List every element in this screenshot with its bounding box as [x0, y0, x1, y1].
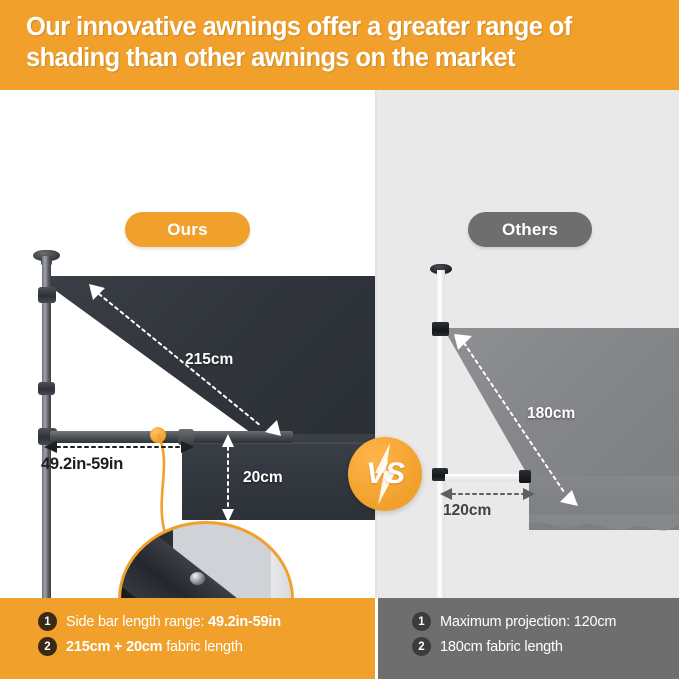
list-number-badge: 2 [38, 637, 57, 656]
page-title: Our innovative awnings offer a greater r… [26, 12, 663, 74]
list-item: 1 Side bar length range: 49.2in-59in [38, 612, 281, 631]
list-number-badge: 2 [412, 637, 431, 656]
others-measure-120cm: 120cm [443, 502, 491, 520]
footer-ours-item-2-plain: fabric length [162, 639, 242, 655]
ours-clamp-middle [38, 382, 55, 395]
others-120cm-dimension-line [440, 486, 535, 502]
badge-others: Others [468, 212, 592, 247]
list-item: 2 215cm + 20cm fabric length [38, 637, 281, 656]
list-item: 1 Maximum projection: 120cm [412, 612, 616, 631]
ours-20cm-dimension-line [219, 434, 237, 522]
ours-sidebar-dimension-line [44, 438, 194, 456]
others-clamp-upper [432, 322, 449, 336]
vs-badge-label: VS [348, 437, 422, 511]
footer-ours-item-1-bold: 49.2in-59in [208, 614, 281, 630]
others-measure-180cm: 180cm [527, 405, 575, 423]
list-item: 2 180cm fabric length [412, 637, 616, 656]
ours-clamp-upper [38, 287, 56, 303]
badge-ours: Ours [125, 212, 250, 247]
ours-measure-20cm: 20cm [243, 469, 283, 487]
list-number-badge: 1 [38, 612, 57, 631]
footer-ours-item-2: 215cm + 20cm fabric length [66, 639, 243, 655]
footer-others-item-2: 180cm fabric length [440, 639, 563, 655]
footer-specs: 1 Side bar length range: 49.2in-59in 2 2… [0, 598, 679, 679]
list-number-badge: 1 [412, 612, 431, 631]
vs-badge: VS [348, 437, 422, 511]
footer-others-item-1: Maximum projection: 120cm [440, 614, 616, 630]
infographic-page: Our innovative awnings offer a greater r… [0, 0, 679, 679]
magnifier-screw-icon [190, 572, 205, 585]
footer-ours-item-1-plain: Side bar length range: [66, 614, 208, 630]
footer-ours-item-2-bold: 215cm + 20cm [66, 639, 162, 655]
footer-ours-list: 1 Side bar length range: 49.2in-59in 2 2… [38, 612, 281, 656]
ours-measure-sidebar-range: 49.2in-59in [41, 455, 123, 474]
ours-measure-215cm: 215cm [185, 351, 233, 369]
footer-others-list: 1 Maximum projection: 120cm 2 180cm fabr… [412, 612, 616, 656]
badge-ours-label: Ours [167, 220, 207, 240]
others-scalloped-edge [529, 514, 679, 538]
badge-others-label: Others [502, 220, 558, 240]
footer-ours-item-1: Side bar length range: 49.2in-59in [66, 614, 281, 630]
comparison-stage: 215cm 49.2in-59in 20cm Ours Others [0, 90, 679, 598]
header-banner: Our innovative awnings offer a greater r… [0, 0, 679, 90]
panel-divider [375, 90, 379, 598]
